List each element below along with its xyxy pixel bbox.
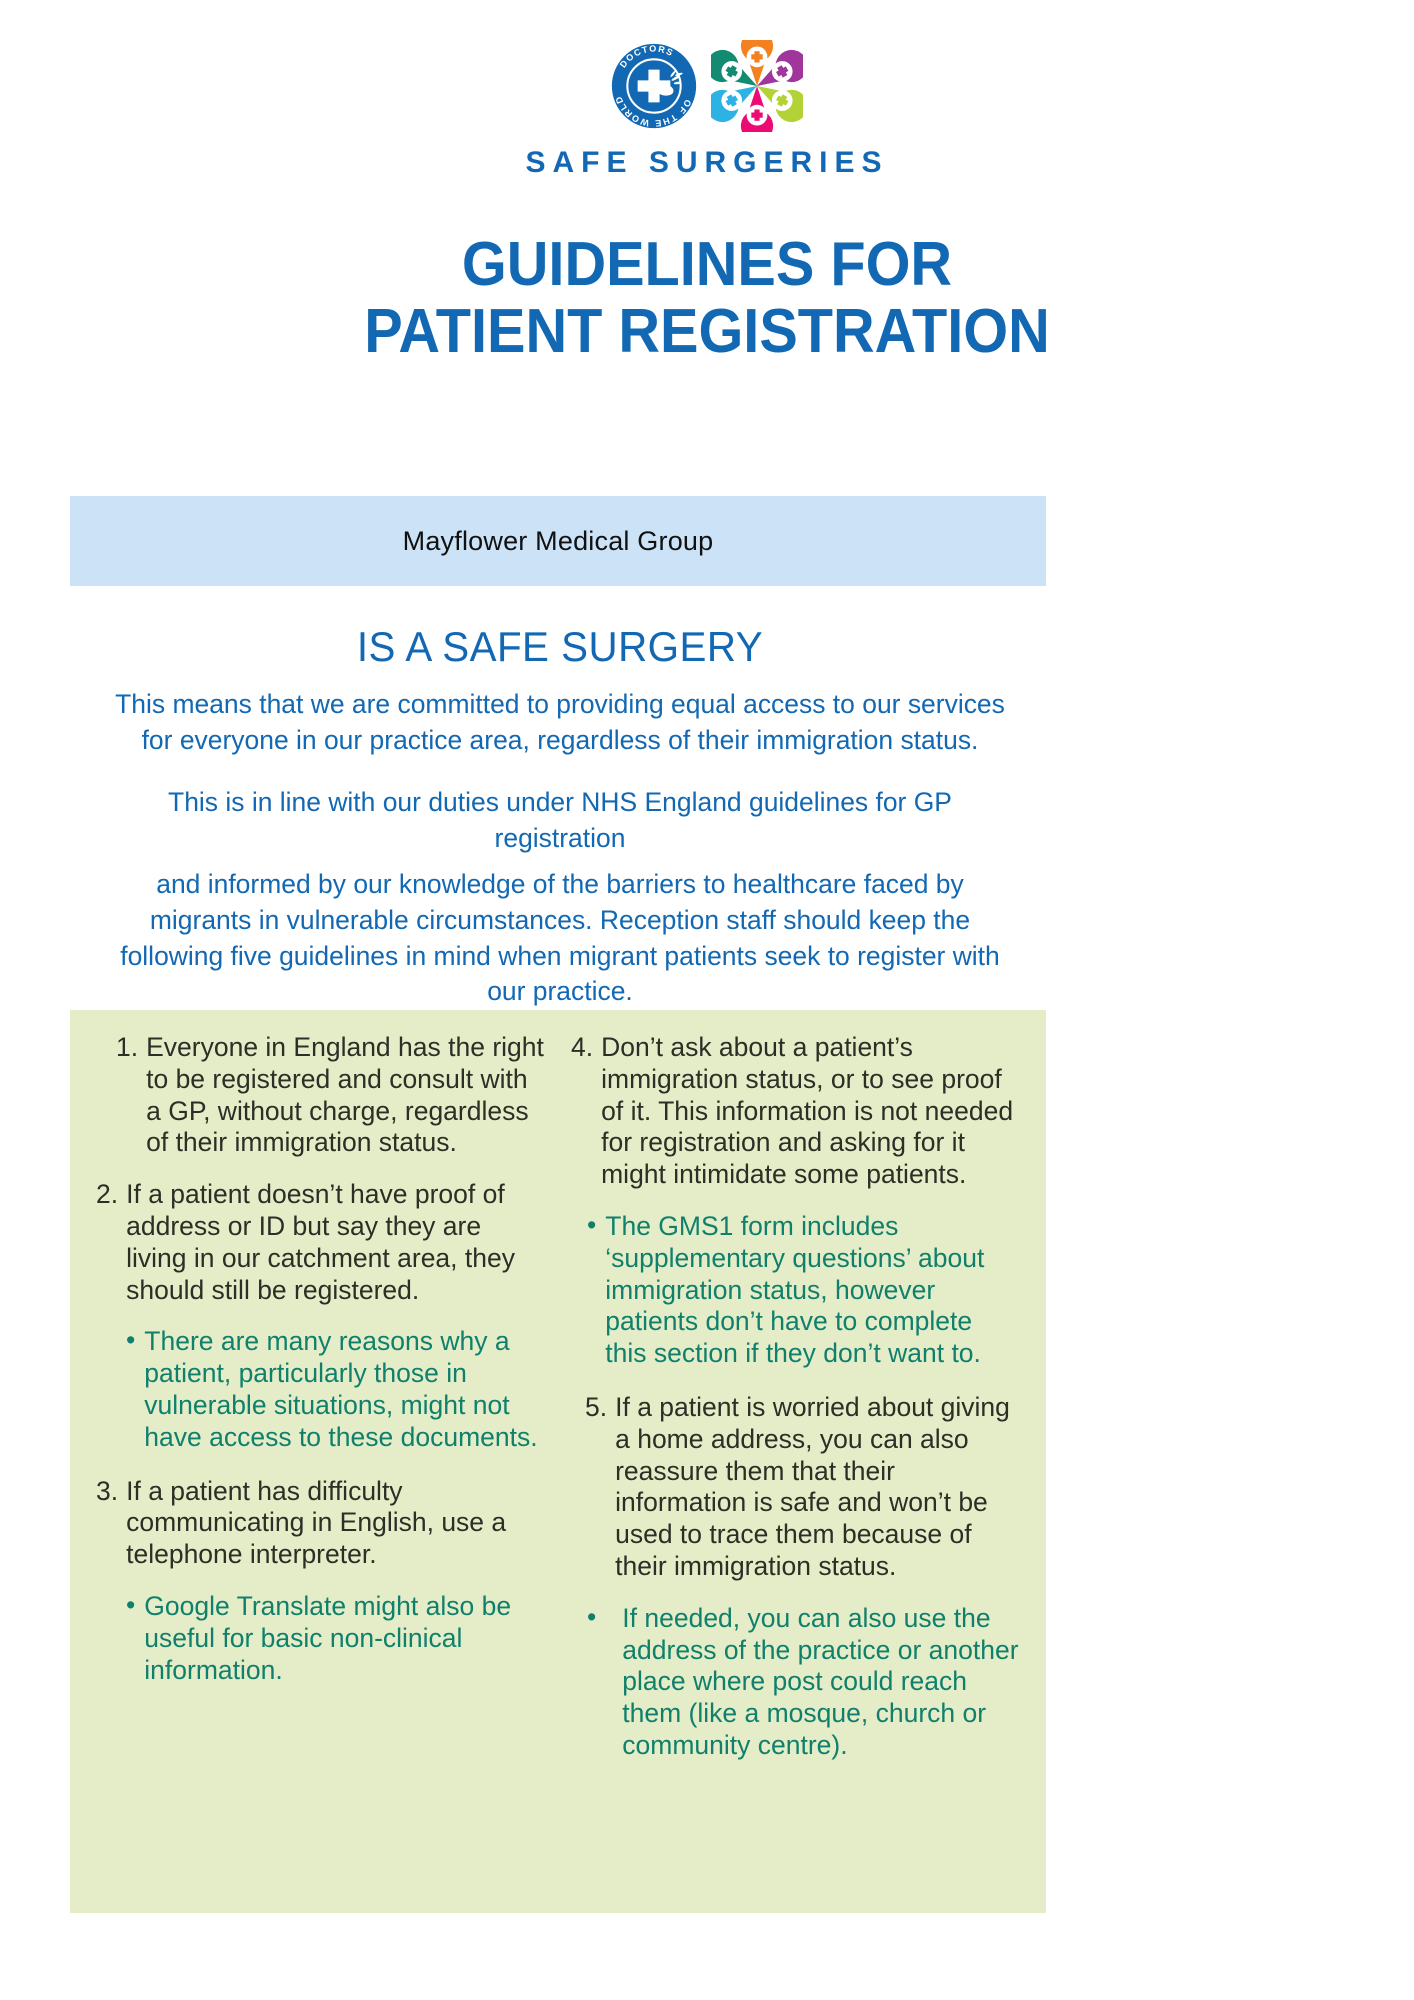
guideline-item-1-number: 1. bbox=[116, 1032, 146, 1159]
guideline-item-1-text: Everyone in England has the right to be … bbox=[146, 1032, 545, 1159]
guidelines-left-column: 1. Everyone in England has the right to … bbox=[96, 1032, 545, 1903]
page-title-line1: GUIDELINES FOR bbox=[49, 232, 1364, 299]
guideline-item-5-subbullet: • If needed, you can also use the addres… bbox=[571, 1603, 1020, 1762]
guideline-item-5-text: If a patient is worried about giving a h… bbox=[615, 1392, 1020, 1583]
guideline-item-2-number: 2. bbox=[96, 1179, 126, 1306]
guidelines-right-column: 4. Don’t ask about a patient’s immigrati… bbox=[571, 1032, 1020, 1903]
page-title: GUIDELINES FOR PATIENT REGISTRATION bbox=[49, 232, 1364, 366]
guideline-item-2-subbullet-text: There are many reasons why a patient, pa… bbox=[144, 1326, 545, 1453]
poster-page: DOCTORS OF THE WORLD bbox=[0, 0, 1414, 2000]
guideline-item-4-text: Don’t ask about a patient’s immigration … bbox=[601, 1032, 1020, 1191]
page-title-line2: PATIENT REGISTRATION bbox=[49, 299, 1364, 366]
intro-paragraph-2: This is in line with our duties under NH… bbox=[104, 785, 1015, 857]
practice-name-banner: Mayflower Medical Group bbox=[70, 496, 1046, 586]
header-logo-block: DOCTORS OF THE WORLD bbox=[0, 0, 1414, 180]
guideline-item-5-number: 5. bbox=[585, 1392, 615, 1583]
guideline-item-3-subbullet: • Google Translate might also be useful … bbox=[96, 1591, 545, 1686]
safe-surgeries-flower-logo bbox=[711, 40, 803, 132]
guideline-item-3-text: If a patient has difficulty communicatin… bbox=[126, 1476, 545, 1571]
guideline-item-4-subbullet-text: The GMS1 form includes ‘supplementary qu… bbox=[605, 1211, 1020, 1370]
guideline-item-4: 4. Don’t ask about a patient’s immigrati… bbox=[571, 1032, 1020, 1191]
safe-surgeries-wordmark: SAFE SURGERIES bbox=[525, 146, 888, 180]
bullet-icon: • bbox=[126, 1591, 144, 1686]
guideline-item-3: 3. If a patient has difficulty communica… bbox=[96, 1476, 545, 1571]
guidelines-box: 1. Everyone in England has the right to … bbox=[70, 1010, 1046, 1913]
guideline-item-2-subbullet: • There are many reasons why a patient, … bbox=[96, 1326, 545, 1453]
bullet-icon: • bbox=[126, 1326, 144, 1453]
bullet-icon: • bbox=[587, 1211, 605, 1370]
guideline-item-5: 5. If a patient is worried about giving … bbox=[571, 1392, 1020, 1583]
practice-name: Mayflower Medical Group bbox=[403, 526, 714, 557]
guideline-item-4-number: 4. bbox=[571, 1032, 601, 1191]
guideline-item-3-number: 3. bbox=[96, 1476, 126, 1571]
guideline-item-4-subbullet: • The GMS1 form includes ‘supplementary … bbox=[571, 1211, 1020, 1370]
intro-section: IS A SAFE SURGERY This means that we are… bbox=[95, 625, 1025, 1010]
intro-paragraph-3: and informed by our knowledge of the bar… bbox=[104, 867, 1015, 1011]
intro-heading: IS A SAFE SURGERY bbox=[114, 625, 1007, 669]
guideline-item-5-subbullet-text: If needed, you can also use the address … bbox=[622, 1603, 1020, 1762]
doctors-of-the-world-logo: DOCTORS OF THE WORLD bbox=[611, 43, 697, 129]
guideline-item-1: 1. Everyone in England has the right to … bbox=[96, 1032, 545, 1159]
guideline-item-2-text: If a patient doesn’t have proof of addre… bbox=[126, 1179, 545, 1306]
guideline-item-2: 2. If a patient doesn’t have proof of ad… bbox=[96, 1179, 545, 1306]
logo-marks: DOCTORS OF THE WORLD bbox=[611, 42, 803, 130]
guideline-item-3-subbullet-text: Google Translate might also be useful fo… bbox=[144, 1591, 545, 1686]
bullet-icon: • bbox=[587, 1603, 622, 1762]
intro-paragraph-1: This means that we are committed to prov… bbox=[104, 687, 1015, 759]
